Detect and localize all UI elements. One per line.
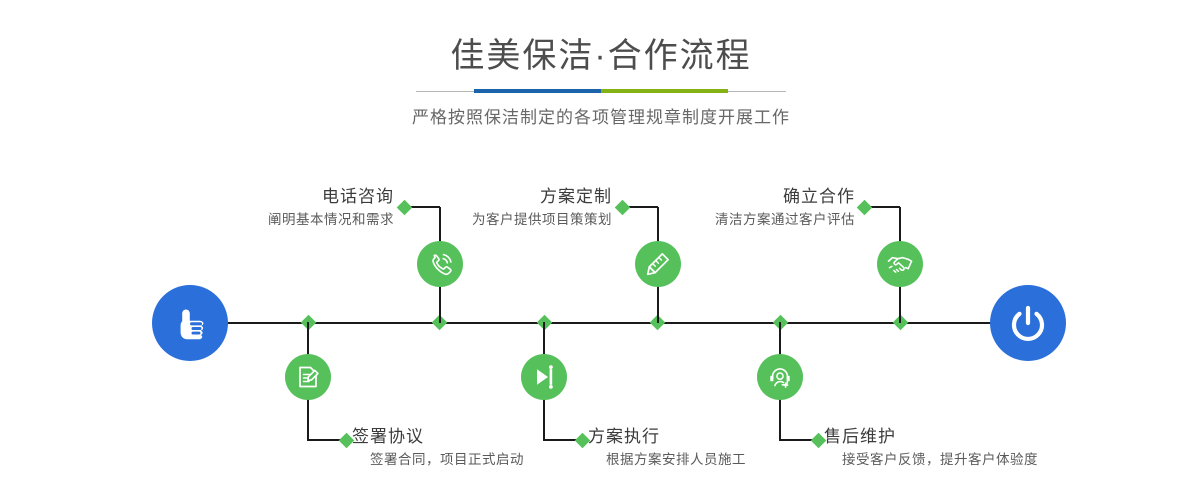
- step-label-5: 确立合作 清洁方案通过客户评估: [600, 186, 855, 230]
- step-icon-2[interactable]: [285, 354, 331, 400]
- step-title-3: 方案定制: [357, 186, 612, 208]
- step-desc-6: 接受客户反馈，提升客户体验度: [824, 450, 1114, 470]
- step-desc-3: 为客户提供项目策策划: [357, 210, 612, 230]
- step-title-5: 确立合作: [600, 186, 855, 208]
- step-icon-6[interactable]: [757, 354, 803, 400]
- step-icon-1[interactable]: [417, 241, 463, 287]
- play-forward-icon: [530, 363, 558, 391]
- timeline: 电话咨询 阐明基本情况和需求 签署协议 签署合同，项目正式启动: [0, 0, 1202, 502]
- step-title-2: 签署协议: [352, 426, 592, 448]
- step-desc-1: 阐明基本情况和需求: [139, 210, 394, 230]
- step-icon-3[interactable]: [635, 241, 681, 287]
- step-desc-4: 根据方案安排人员施工: [588, 450, 838, 470]
- label-marker-5: [857, 200, 873, 216]
- step-desc-2: 签署合同，项目正式启动: [352, 450, 592, 470]
- step-icon-4[interactable]: [521, 354, 567, 400]
- pointing-hand-icon: [168, 301, 212, 345]
- step-desc-5: 清洁方案通过客户评估: [600, 210, 855, 230]
- step-title-6: 售后维护: [824, 426, 1114, 448]
- flow-infographic: 佳美保洁·合作流程 严格按照保洁制定的各项管理规章制度开展工作: [0, 0, 1202, 502]
- phone-call-icon: [425, 249, 455, 279]
- power-icon: [1005, 300, 1051, 346]
- document-edit-icon: [294, 363, 322, 391]
- step-label-4: 方案执行 根据方案安排人员施工: [588, 426, 838, 470]
- pencil-ruler-icon: [643, 249, 673, 279]
- step-label-3: 方案定制 为客户提供项目策策划: [357, 186, 612, 230]
- customer-support-icon: [766, 363, 794, 391]
- handshake-icon: [885, 249, 915, 279]
- timeline-end-node[interactable]: [990, 285, 1066, 361]
- step-label-2: 签署协议 签署合同，项目正式启动: [352, 426, 592, 470]
- step-label-1: 电话咨询 阐明基本情况和需求: [139, 186, 394, 230]
- step-icon-5[interactable]: [877, 241, 923, 287]
- step-label-6: 售后维护 接受客户反馈，提升客户体验度: [824, 426, 1114, 470]
- step-title-4: 方案执行: [588, 426, 838, 448]
- timeline-start-node[interactable]: [152, 285, 228, 361]
- step-title-1: 电话咨询: [139, 186, 394, 208]
